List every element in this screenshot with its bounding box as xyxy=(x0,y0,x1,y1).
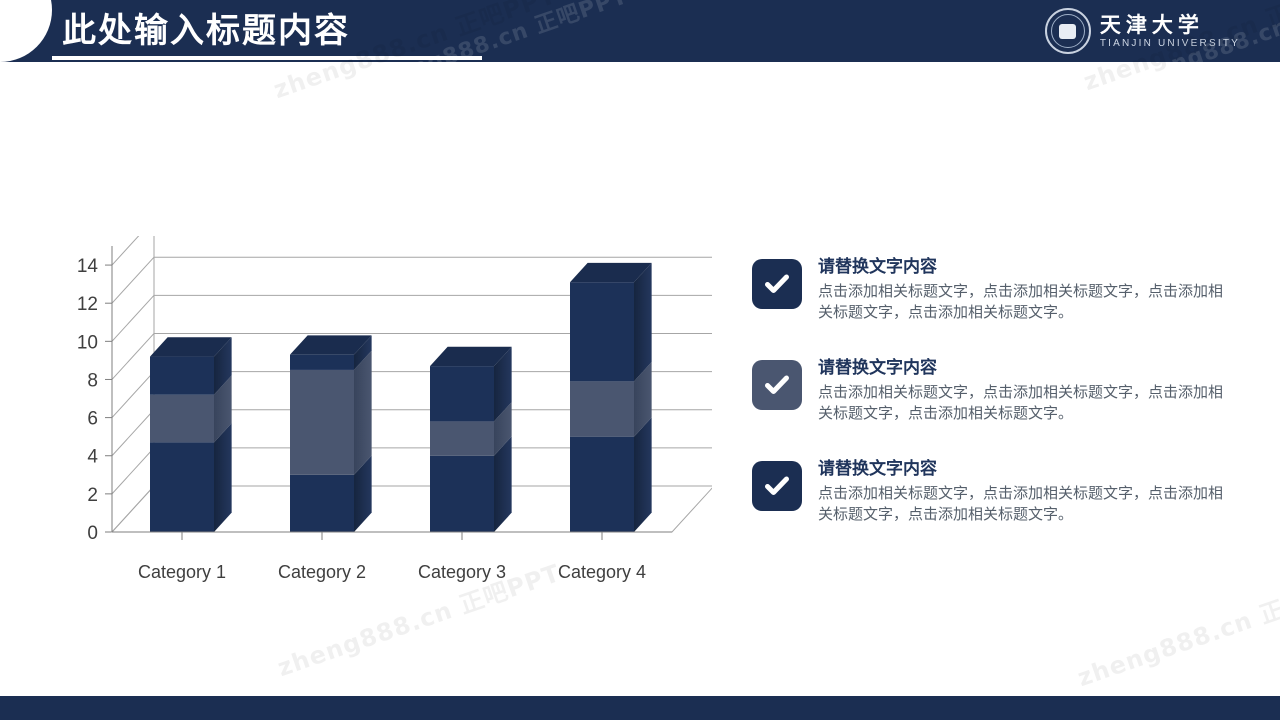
slide-header: 此处输入标题内容 zheng888.cn 正吧PPT zheng888.cn 正… xyxy=(0,0,1280,62)
chart-bar xyxy=(290,335,372,532)
bar-side-face xyxy=(354,351,372,475)
bar-front-face xyxy=(150,357,214,395)
chart-tick-label: 4 xyxy=(87,447,98,468)
logo-name-cn: 天津大学 xyxy=(1100,13,1240,37)
list-item[interactable]: 请替换文字内容 点击添加相关标题文字，点击添加相关标题文字，点击添加相关标题文字… xyxy=(752,356,1232,424)
logo-wordmark: 天津大学 TIANJIN UNIVERSITY xyxy=(1100,13,1240,50)
chart-category-label: Category 3 xyxy=(418,562,506,582)
slide-footer xyxy=(0,696,1280,720)
list-item[interactable]: 请替换文字内容 点击添加相关标题文字，点击添加相关标题文字，点击添加相关标题文字… xyxy=(752,255,1232,323)
chart-tick-label: 14 xyxy=(77,256,99,277)
chart-tick-label: 6 xyxy=(87,409,98,430)
header-corner-cutout xyxy=(0,0,52,62)
bar-front-face xyxy=(290,370,354,475)
check-glyph xyxy=(763,371,791,399)
bullet-list: 请替换文字内容 点击添加相关标题文字，点击添加相关标题文字，点击添加相关标题文字… xyxy=(752,255,1232,525)
chart-depth-line xyxy=(112,333,154,379)
university-seal-icon xyxy=(1045,8,1091,54)
list-item-title: 请替换文字内容 xyxy=(818,457,1232,481)
slide-root: 此处输入标题内容 zheng888.cn 正吧PPT zheng888.cn 正… xyxy=(0,0,1280,720)
chart-depth-line xyxy=(112,257,154,303)
bar-front-face xyxy=(290,475,354,532)
watermark-header-left: zheng888.cn 正吧PPT xyxy=(362,0,631,62)
chart-tick-label: 2 xyxy=(87,485,98,506)
chart-tick-label: 0 xyxy=(87,523,98,544)
list-item-body: 点击添加相关标题文字，点击添加相关标题文字，点击添加相关标题文字，点击添加相关标… xyxy=(818,382,1232,424)
chart-depth-line xyxy=(112,448,154,494)
checkmark-icon[interactable] xyxy=(752,259,802,309)
checkmark-icon[interactable] xyxy=(752,461,802,511)
page-title: 此处输入标题内容 xyxy=(62,4,350,58)
bar-side-face xyxy=(634,417,652,532)
list-item-body: 点击添加相关标题文字，点击添加相关标题文字，点击添加相关标题文字，点击添加相关标… xyxy=(818,483,1232,525)
checkmark-icon[interactable] xyxy=(752,360,802,410)
chart-depth-line xyxy=(112,410,154,456)
logo-name-en: TIANJIN UNIVERSITY xyxy=(1100,37,1240,50)
check-glyph xyxy=(763,472,791,500)
university-logo: 天津大学 TIANJIN UNIVERSITY xyxy=(1045,6,1240,56)
bar-front-face xyxy=(290,355,354,370)
chart-depth-line xyxy=(112,295,154,341)
bar-side-face xyxy=(634,263,652,381)
bar-front-face xyxy=(570,282,634,381)
chart-svg: 02468101214Category 1Category 2Category … xyxy=(52,236,712,586)
list-item-body: 点击添加相关标题文字，点击添加相关标题文字，点击添加相关标题文字，点击添加相关标… xyxy=(818,281,1232,323)
bar-front-face xyxy=(430,366,494,421)
chart-bar xyxy=(430,347,512,532)
chart-tick-label: 8 xyxy=(87,370,98,391)
bar-front-face xyxy=(150,395,214,443)
list-item[interactable]: 请替换文字内容 点击添加相关标题文字，点击添加相关标题文字，点击添加相关标题文字… xyxy=(752,457,1232,525)
chart-depth-line xyxy=(112,236,154,265)
list-item-title: 请替换文字内容 xyxy=(818,356,1232,380)
list-item-title: 请替换文字内容 xyxy=(818,255,1232,279)
chart-bar xyxy=(570,263,652,532)
bar-front-face xyxy=(570,437,634,532)
list-item-text: 请替换文字内容 点击添加相关标题文字，点击添加相关标题文字，点击添加相关标题文字… xyxy=(818,255,1232,323)
watermark: zheng888.cn 正吧PPT xyxy=(1072,563,1280,693)
list-item-text: 请替换文字内容 点击添加相关标题文字，点击添加相关标题文字，点击添加相关标题文字… xyxy=(818,356,1232,424)
chart-category-label: Category 4 xyxy=(558,562,646,582)
stacked-3d-bar-chart: 02468101214Category 1Category 2Category … xyxy=(52,236,712,586)
bar-front-face xyxy=(430,456,494,532)
chart-category-label: Category 1 xyxy=(138,562,226,582)
chart-category-label: Category 2 xyxy=(278,562,366,582)
header-underline xyxy=(52,56,482,60)
list-item-text: 请替换文字内容 点击添加相关标题文字，点击添加相关标题文字，点击添加相关标题文字… xyxy=(818,457,1232,525)
chart-tick-label: 10 xyxy=(77,332,98,353)
seal-inner-ring xyxy=(1051,14,1085,48)
chart-tick-label: 12 xyxy=(77,294,98,315)
chart-depth-line xyxy=(112,372,154,418)
bar-front-face xyxy=(430,421,494,455)
chart-bar xyxy=(150,337,232,532)
bar-front-face xyxy=(570,381,634,436)
check-glyph xyxy=(763,270,791,298)
bar-front-face xyxy=(150,442,214,532)
